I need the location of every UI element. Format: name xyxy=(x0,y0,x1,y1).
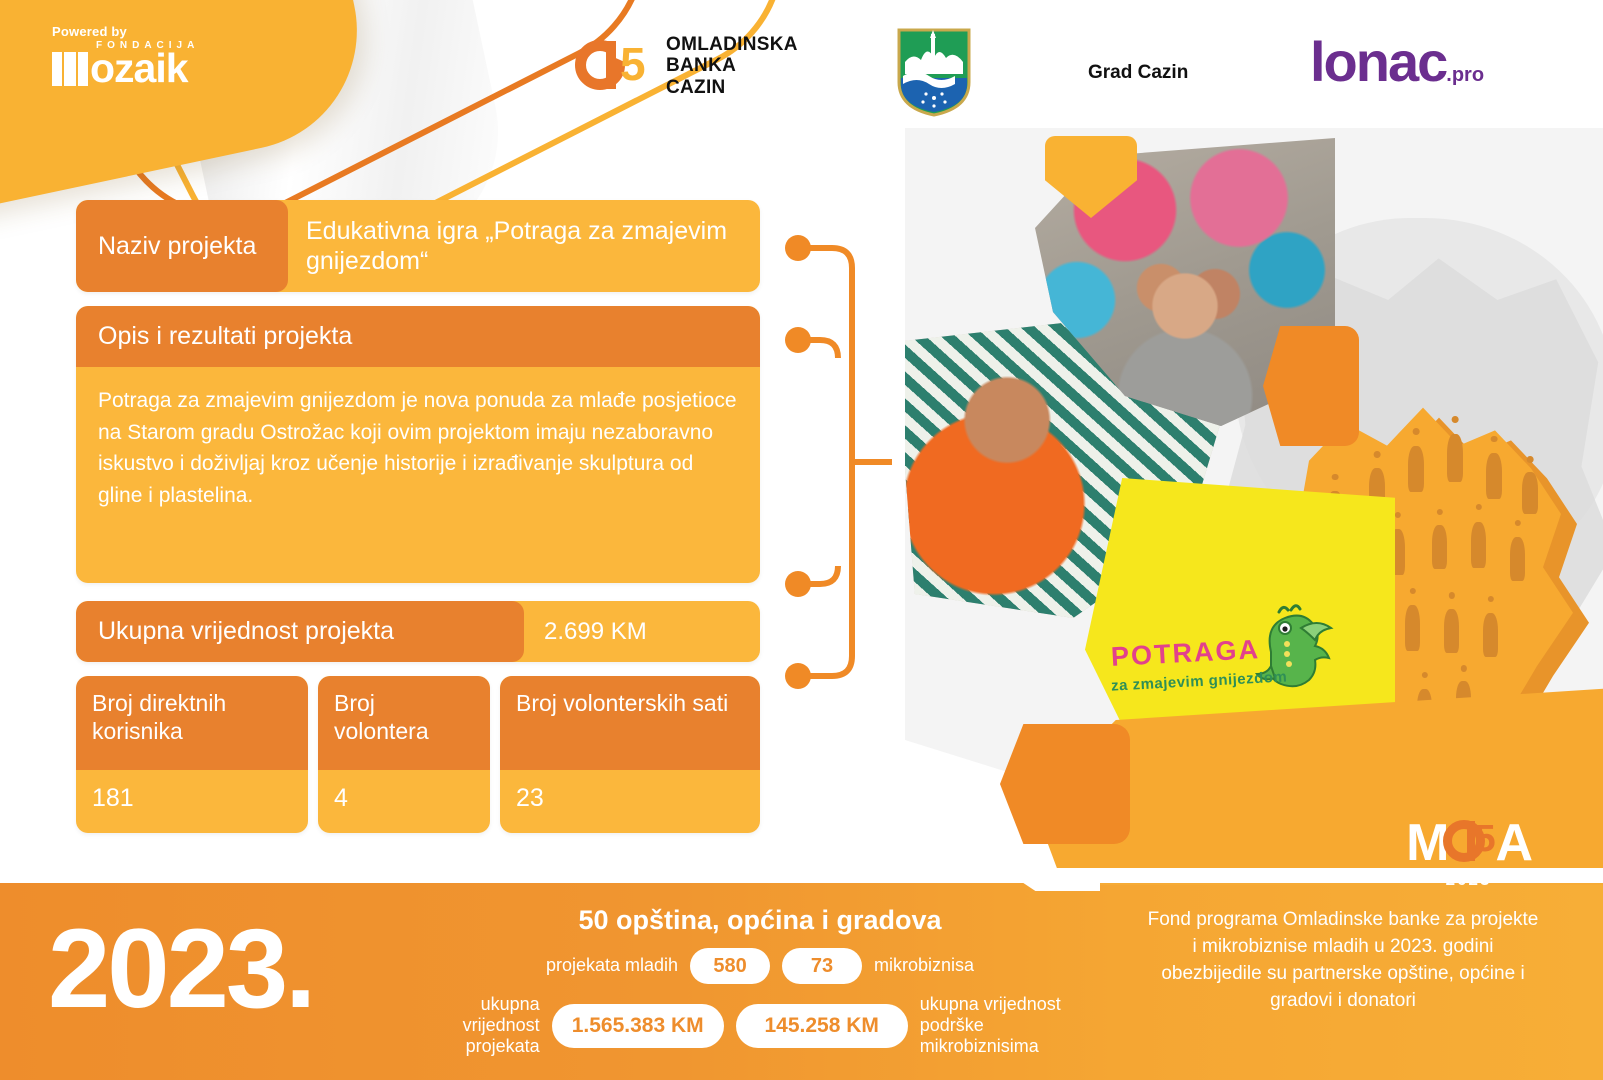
metric-label: Broj volontera xyxy=(318,676,490,770)
footer-diagonal-notch xyxy=(930,883,1100,891)
metric-label: Broj volonterskih sati xyxy=(500,676,760,770)
omladinska-banka-text: OMLADINSKA BANKA CAZIN xyxy=(666,34,798,98)
project-title-value: Edukativna igra „Potraga za zmajevim gni… xyxy=(288,200,760,292)
footer-statistics: 50 opština, općina i gradova projekata m… xyxy=(420,905,1100,1068)
mosa-letter-a: A xyxy=(1495,817,1531,869)
metric-label: Broj direktnih korisnika xyxy=(76,676,308,770)
artwork-collage: POTRAGA za zmajevim gnijezdom xyxy=(905,128,1603,868)
lonac-name: lonac xyxy=(1310,30,1446,93)
footer-microbusiness-value: 73 xyxy=(782,948,862,984)
omladinska-banka-logo: 5 OMLADINSKA BANKA CAZIN xyxy=(575,34,798,98)
footer-band: 2023. 50 opština, općina i gradova proje… xyxy=(0,883,1603,1080)
project-description-card: Opis i rezultati projekta Potraga za zma… xyxy=(76,306,760,583)
mozaik-m-glyph-icon xyxy=(52,52,88,86)
project-value-amount: 2.699 KM xyxy=(524,601,667,662)
infographic-poster: Powered by FONDACIJA ozaik 5 OMLADINSKA … xyxy=(0,0,1603,1080)
project-metrics: Broj direktnih korisnika 181 Broj volont… xyxy=(76,676,760,833)
footer-microbusiness-total-value: 145.258 KM xyxy=(736,1004,908,1048)
ob-line-2: BANKA xyxy=(666,55,798,76)
mosa-year: 2023 xyxy=(1406,871,1531,888)
project-description-text: Potraga za zmajevim gnijezdom je nova po… xyxy=(76,367,760,583)
metric-card: Broj volonterskih sati 23 xyxy=(500,676,760,833)
lonac-suffix: .pro xyxy=(1446,64,1484,86)
mozaik-name: ozaik xyxy=(90,51,188,86)
project-title-label: Naziv projekta xyxy=(76,200,288,292)
mosa-letter-m: M xyxy=(1406,817,1447,869)
bracket-connector xyxy=(780,212,910,712)
mosa-logo: M 5 A 2023 xyxy=(1406,817,1531,888)
mozaik-powered-by: Powered by xyxy=(52,24,237,39)
metric-value: 23 xyxy=(500,770,760,833)
cazin-coat-of-arms-icon xyxy=(895,26,973,123)
metric-value: 181 xyxy=(76,770,308,833)
project-value-label: Ukupna vrijednost projekta xyxy=(76,601,524,662)
chevron-decoration-bottom xyxy=(1000,724,1130,844)
footer-year: 2023. xyxy=(48,913,313,1025)
grad-cazin-label: Grad Cazin xyxy=(1088,62,1188,84)
mosa-wordmark: M 5 A xyxy=(1406,817,1531,869)
metric-card: Broj volontera 4 xyxy=(318,676,490,833)
project-value-row: Ukupna vrijednost projekta 2.699 KM xyxy=(76,601,760,662)
footer-projects-total-label: ukupna vrijednost projekata xyxy=(420,994,540,1058)
metric-value: 4 xyxy=(318,770,490,833)
ob-line-1: OMLADINSKA xyxy=(666,34,798,55)
footer-stat-row-projects: projekata mladih 580 73 mikrobiznisa xyxy=(420,948,1100,984)
footer-projects-total-value: 1.565.383 KM xyxy=(552,1004,724,1048)
project-info-column: Naziv projekta Edukativna igra „Potraga … xyxy=(76,200,760,833)
footer-projects-value: 580 xyxy=(690,948,770,984)
project-description-label: Opis i rezultati projekta xyxy=(76,306,760,367)
ob15-mark-icon: 5 xyxy=(575,38,653,94)
footer-projects-label: projekata mladih xyxy=(546,955,678,976)
footer-microbusiness-label: mikrobiznisa xyxy=(874,955,974,976)
mozaik-logo: Powered by FONDACIJA ozaik xyxy=(52,24,237,86)
footer-stat-row-values: ukupna vrijednost projekata 1.565.383 KM… xyxy=(420,994,1100,1058)
footer-headline: 50 opština, općina i gradova xyxy=(420,905,1100,936)
mozaik-wordmark: ozaik xyxy=(52,51,237,86)
footer-note: Fond programa Omladinske banke za projek… xyxy=(1143,907,1543,1015)
lonac-pro-logo: lonac.pro xyxy=(1310,34,1484,90)
metric-card: Broj direktnih korisnika 181 xyxy=(76,676,308,833)
ob-line-3: CAZIN xyxy=(666,77,798,98)
mosa-ob15-icon: 5 xyxy=(1443,819,1499,867)
project-title-row: Naziv projekta Edukativna igra „Potraga … xyxy=(76,200,760,292)
footer-microbusiness-total-label: ukupna vrijednost podrške mikrobiznisima xyxy=(920,994,1100,1058)
chevron-decoration-right xyxy=(1263,326,1359,446)
